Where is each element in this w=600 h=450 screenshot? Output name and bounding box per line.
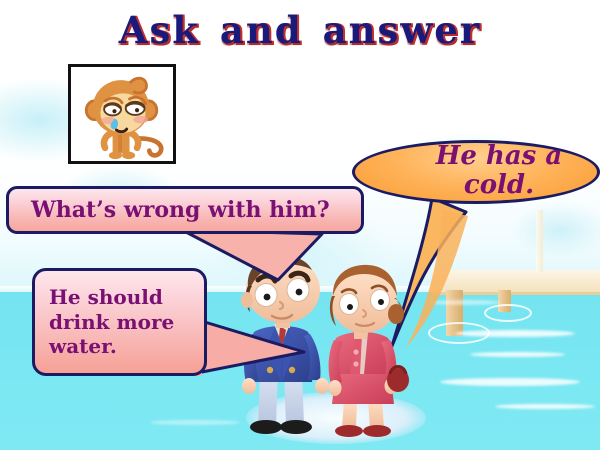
advice-bubble-text: He should drink more water. bbox=[35, 285, 174, 358]
girl-figure bbox=[329, 265, 410, 437]
title-word: answer bbox=[323, 8, 482, 52]
water-wave bbox=[150, 420, 240, 425]
pier-rail bbox=[536, 210, 543, 272]
slide-title: Askandanswer bbox=[0, 8, 600, 52]
water-wave bbox=[495, 404, 595, 409]
slide-canvas: Askandanswer bbox=[0, 0, 600, 450]
question-bubble-text: What’s wrong with him? bbox=[9, 197, 330, 223]
monkey-illustration bbox=[71, 67, 173, 161]
answer-speech-bubble[interactable] bbox=[352, 140, 600, 204]
advice-bubble-line: drink more bbox=[49, 310, 174, 334]
advice-speech-bubble[interactable]: He should drink more water. bbox=[32, 268, 207, 376]
title-word: and bbox=[220, 8, 303, 52]
advice-bubble-tail bbox=[196, 318, 311, 378]
sick-monkey-picture bbox=[68, 64, 176, 164]
advice-bubble-line: water. bbox=[49, 334, 174, 358]
water-wave bbox=[440, 378, 580, 386]
question-speech-bubble[interactable]: What’s wrong with him? bbox=[6, 186, 364, 234]
title-word: Ask bbox=[119, 8, 200, 52]
advice-bubble-line: He should bbox=[49, 285, 174, 309]
